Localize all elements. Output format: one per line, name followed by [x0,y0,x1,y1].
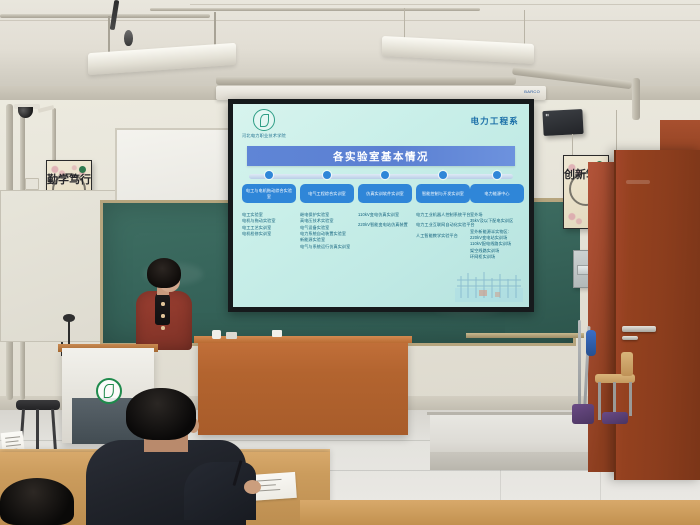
slide-column-2: 电气工程综合实训室 继电保护实验室 高电压技术实验室 电气设备实验室 电力系统自… [300,184,354,250]
presentation-slide: 河北电力职业技术学院 电力工程系 各实验室基本情况 电工与电机拖动综合实验室 电… [233,104,529,307]
slide-item: 人工智能教学实验平台 [416,233,470,239]
door-handle [622,326,656,332]
slide-items-3: 110kV变电仿真实训室 220kV智能变电站仿真装置 [358,212,412,229]
slide-node-5 [493,171,501,179]
light-hanger-left [108,16,110,52]
poster-seal-icon [79,166,86,173]
chalk-tray [466,333,584,338]
slide-substation-artwork [455,268,523,302]
door-lock-plate [622,336,638,340]
slide-chip-5: 电力能源中心 [470,184,524,203]
slide-chip-4-label: 智能控制与开发实训室 [422,191,464,196]
slide-items-5: 室外场 35kV及以下配电实训区 室外新能源半实物区: 220kV变电站实训场 … [470,212,524,260]
slide-items-4: 电力工业机器人控制系统平台 电力工业互联网自动化实验平台 人工智能教学实验平台 [416,212,470,239]
slide-column-4: 智能控制与开发实训室 电力工业机器人控制系统平台 电力工业互联网自动化实验平台 … [416,184,470,239]
slide-department-header: 电力工程系 [470,115,519,127]
slide-column-1: 电工与电机拖动综合实验室 电工实验室 电机与拖动实验室 电工工艺实训室 电机检修… [242,184,296,237]
slide-node-4 [439,171,447,179]
projection-screen: 河北电力职业技术学院 电力工程系 各实验室基本情况 电工与电机拖动综合实验室 电… [228,99,534,312]
slide-node-1 [265,171,273,179]
slide-item: 220kV智能变电站仿真装置 [358,222,412,228]
slide-chip-3: 仿真实训软件实训室 [358,184,412,203]
slide-item: 电气与系统运行仿真实训室 [300,244,354,250]
classroom-photo-scene: 勤学笃行 BARCO 河北电力职业技术学院 电力工程系 [0,0,700,525]
slide-item: 环网柜实训场 [470,254,524,260]
slide-items-1: 电工实验室 电机与拖动实验室 电工工艺实训室 电机检修实训室 [242,212,296,237]
floor-bag [602,412,628,424]
slide-column-5: 电力能源中心 室外场 35kV及以下配电实训区 室外新能源半实物区: 220kV… [470,184,524,260]
slide-items-2: 继电保护实验室 高电压技术实验室 电气设备实验室 电力系统自动装置实验室 新能源… [300,212,354,250]
ceiling-pipe-over-screen [216,76,516,85]
desk-items [212,330,252,338]
slide-item: 电力工业互联网自动化实验平台 [416,222,470,228]
slide-chip-5-label: 电力能源中心 [484,191,509,196]
front-attendee-head [0,478,74,525]
ceiling-wire-b [524,10,525,44]
slide-chip-4: 智能控制与开发实训室 [416,184,470,203]
slide-item: 电力工业机器人控制系统平台 [416,212,470,218]
ceiling-pipe-left [0,14,210,18]
projection-screen-housing: BARCO [216,86,546,100]
slide-chip-1: 电工与电机拖动综合实验室 [242,184,296,203]
wall-speaker-icon: ▮▮ [542,109,583,136]
screen-brand-label: BARCO [524,89,540,94]
ceiling-pipe-mid [150,8,480,11]
slide-chip-3-label: 仿真实训软件实训室 [366,191,404,196]
logo-emblem-icon [253,109,275,131]
seated-note-taker [96,388,246,525]
slide-title: 各实验室基本情况 [333,149,429,164]
slide-node-2 [323,171,331,179]
ceiling-seam-2 [190,4,700,5]
slide-node-3 [381,171,389,179]
speaker-wire [572,134,573,156]
mop-head-icon [572,404,594,424]
wall-socket-left [25,178,39,190]
slide-item: 电机检修实训室 [242,231,296,237]
wall-pipe-right [632,78,640,120]
slide-column-3: 仿真实训软件实训室 110kV变电仿真实训室 220kV智能变电站仿真装置 [358,184,412,229]
logo-institution-name: 河北电力职业技术学院 [240,133,288,139]
slide-chip-1-label: 电工与电机拖动综合实验室 [244,188,294,198]
slide-title-bar: 各实验室基本情况 [247,146,515,166]
wooden-door[interactable] [614,150,700,480]
slide-chip-2-label: 电气工程综合实训室 [308,191,346,196]
desk-item-paper [272,330,282,337]
slide-institution-logo: 河北电力职业技术学院 [240,109,288,139]
presenter-person [133,258,195,350]
front-desk-right [300,500,700,525]
ceiling-seam [0,20,700,21]
poster-left-text: 勤学笃行 [47,175,91,187]
slide-chip-2: 电气工程综合实训室 [300,184,354,203]
door-label-plate [626,180,650,184]
hanging-sensor-head [124,30,133,46]
dome-security-camera-icon [14,104,40,119]
